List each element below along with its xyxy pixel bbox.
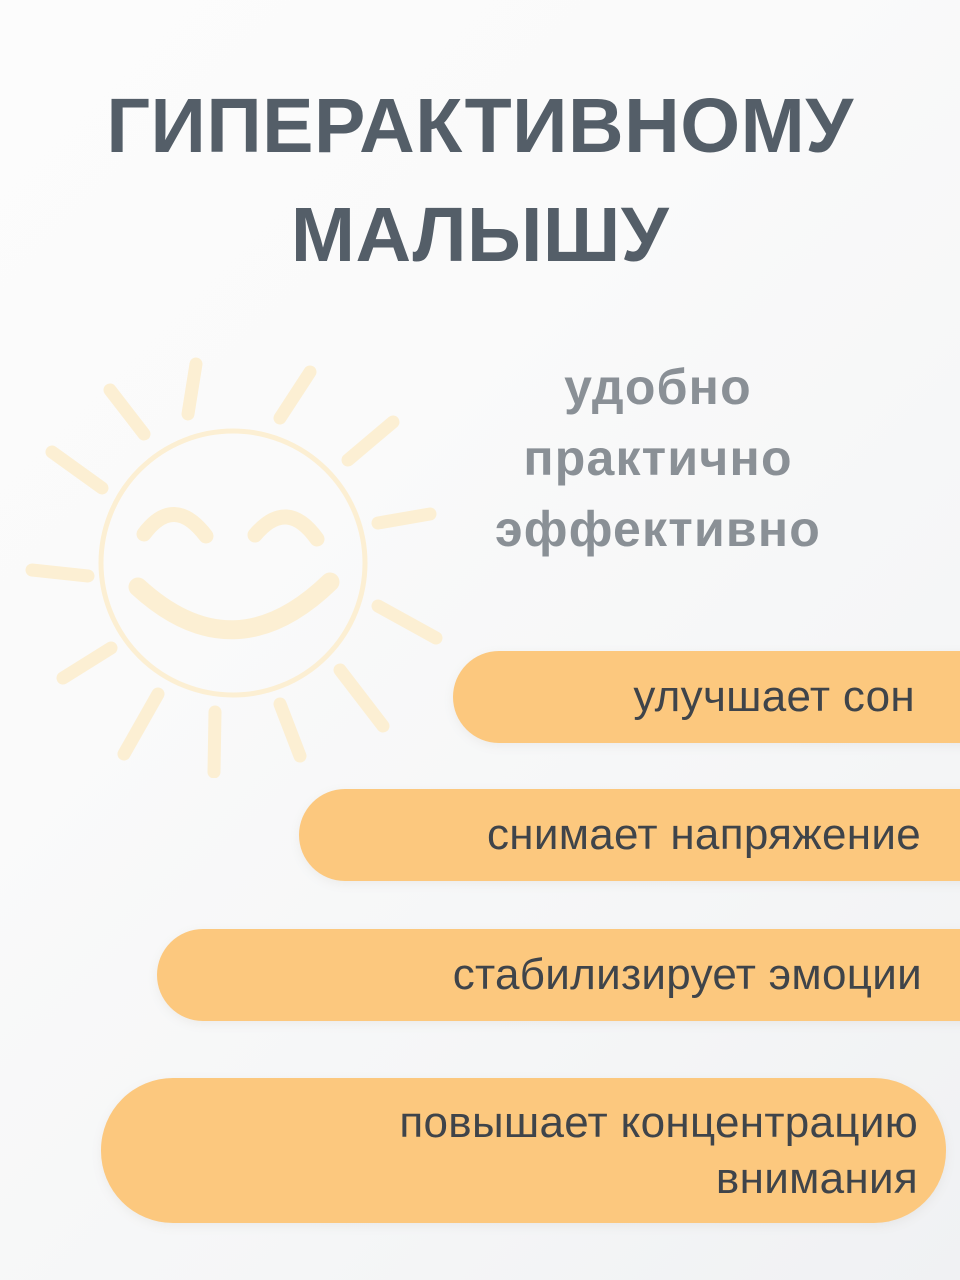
benefit-pill-label: улучшает сон — [493, 669, 915, 725]
benefit-pill-label: повышает концентрацию внимания — [141, 1095, 918, 1207]
subtitle-block: удобно практично эффективно — [378, 352, 938, 565]
subtitle-line-3: эффективно — [378, 494, 938, 565]
promo-poster: ГИПЕРАКТИВНОМУ МАЛЫШУ — [0, 0, 960, 1280]
benefit-pill-label: снимает напряжение — [339, 807, 921, 863]
sun-left-eye — [144, 514, 206, 536]
page-title: ГИПЕРАКТИВНОМУ МАЛЫШУ — [0, 72, 960, 291]
page-title-line-2: МАЛЫШУ — [0, 181, 960, 290]
subtitle-line-2: практично — [378, 423, 938, 494]
sun-smile — [138, 582, 330, 630]
benefit-pill-improves-sleep: улучшает сон — [453, 651, 960, 743]
benefit-pill-label: стабилизирует эмоции — [197, 947, 922, 1003]
benefit-pill-relieves-tension: снимает напряжение — [299, 789, 960, 881]
benefit-pill-stabilizes-emotions: стабилизирует эмоции — [157, 929, 960, 1021]
sun-right-eye — [255, 517, 317, 539]
subtitle-line-1: удобно — [378, 352, 938, 423]
benefit-pill-improves-concentration: повышает концентрацию внимания — [101, 1078, 946, 1223]
page-title-line-1: ГИПЕРАКТИВНОМУ — [0, 72, 960, 181]
